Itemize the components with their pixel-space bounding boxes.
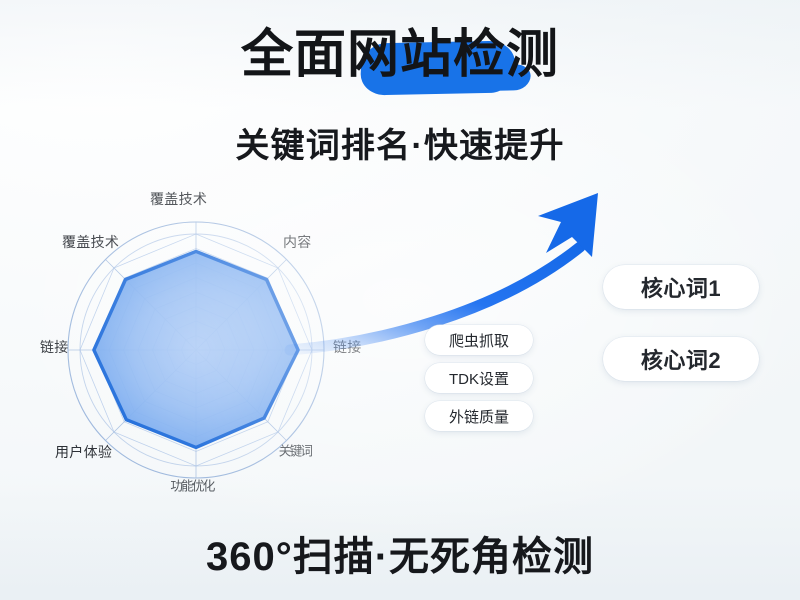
keyword-pill[interactable]: 核心词1 <box>603 265 759 309</box>
page-footline: 360°扫描·无死角检测 <box>206 524 594 582</box>
poster-canvas: 全面网站检测 关键词排名·快速提升 <box>0 0 800 600</box>
process-pill[interactable]: 外链质量 <box>425 401 533 431</box>
radar-axis-bottom-right-label: 关键词 <box>279 442 311 462</box>
title-segment-highlight: 网站 <box>347 26 453 84</box>
title-segment-after: 检测 <box>453 26 559 84</box>
footline-container: 360°扫描·无死角检测 <box>0 524 800 582</box>
process-pill[interactable]: TDK设置 <box>425 363 533 393</box>
radar-axis-top-label: 覆盖技术 <box>150 189 207 209</box>
radar-axis-bottom-label: 功能优化 <box>170 477 213 497</box>
radar-axis-left-label: 链接 <box>40 337 69 357</box>
page-title: 全面网站检测 <box>241 28 559 83</box>
subheadline-container: 关键词排名·快速提升 <box>0 118 800 167</box>
radar-axis-bottom-left-label: 用户体验 <box>55 442 112 462</box>
page-subtitle: 关键词排名·快速提升 <box>235 118 564 167</box>
title-segment-before: 全面 <box>241 26 347 84</box>
process-pill[interactable]: 爬虫抓取 <box>425 325 533 355</box>
headline-container: 全面网站检测 <box>0 28 800 83</box>
radar-series-polygon <box>94 251 298 447</box>
keyword-pill[interactable]: 核心词2 <box>603 337 759 381</box>
radar-axis-top-left-label: 覆盖技术 <box>62 232 119 252</box>
arrow-head-icon <box>538 193 598 257</box>
